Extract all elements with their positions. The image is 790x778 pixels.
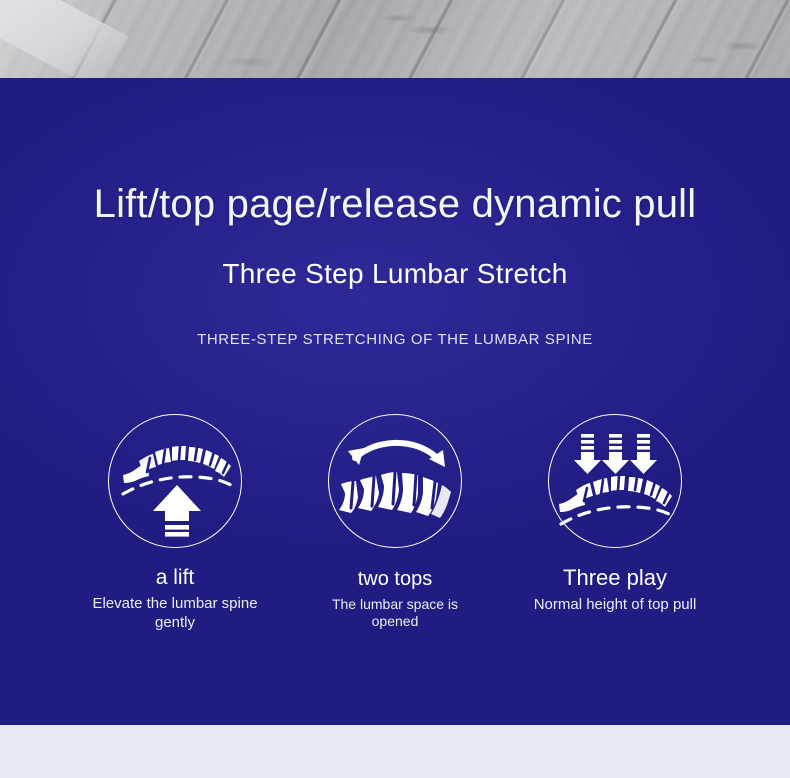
- page-title: Lift/top page/release dynamic pull: [0, 182, 790, 227]
- hero-panel: Lift/top page/release dynamic pull Three…: [0, 78, 790, 725]
- step-desc: Normal height of top pull: [512, 596, 718, 615]
- step-name: two tops: [358, 568, 432, 590]
- footer-strip: [0, 725, 790, 778]
- step-desc: Elevate the lumbar spine gently: [89, 595, 261, 632]
- step-icon-badge: [328, 414, 462, 548]
- page-eyebrow: THREE-STEP STRETCHING OF THE LUMBAR SPIN…: [0, 331, 790, 348]
- wood-floor-photo: [0, 0, 790, 78]
- step-icon-badge: [548, 414, 682, 548]
- step-item-lift: a lift Elevate the lumbar spine gently: [72, 414, 278, 632]
- step-desc: The lumbar space is opened: [311, 596, 479, 631]
- step-item-tops: two tops The lumbar space is opened: [292, 414, 498, 631]
- steps-row: a lift Elevate the lumbar spine gently: [72, 414, 718, 654]
- step-item-play: Three play Normal height of top pull: [512, 414, 718, 615]
- spine-lift-up-arrow-icon: [115, 422, 235, 540]
- spine-spread-double-arrow-icon: [335, 422, 455, 540]
- product-banner: Lift/top page/release dynamic pull Three…: [0, 0, 790, 778]
- step-icon-badge: [108, 414, 242, 548]
- spine-press-down-arrows-icon: [555, 422, 675, 540]
- page-subtitle: Three Step Lumbar Stretch: [0, 258, 790, 290]
- step-name: Three play: [563, 566, 667, 590]
- step-name: a lift: [156, 566, 195, 589]
